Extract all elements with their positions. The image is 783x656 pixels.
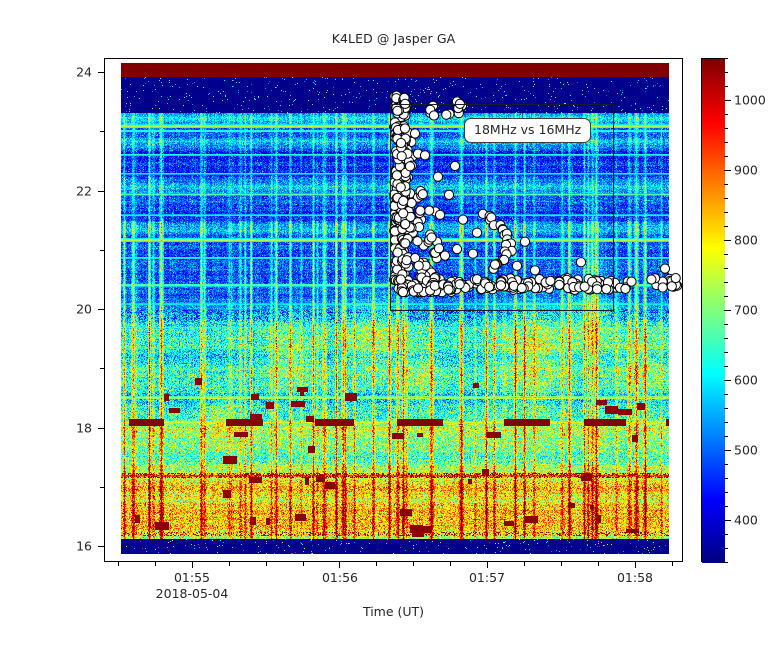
colorbar-tick-minor: [724, 296, 728, 297]
colorbar-tick-minor: [724, 324, 728, 325]
colorbar-ticklabel: 600: [734, 373, 758, 388]
scatter-point: [669, 278, 678, 287]
x-tick-minor: [229, 562, 230, 566]
scatter-point: [672, 281, 681, 290]
x-tick-major: [339, 562, 340, 568]
colorbar-tick-major: [724, 100, 731, 101]
colorbar-tick-minor: [724, 268, 728, 269]
colorbar-tick-major: [724, 240, 731, 241]
page-title: K4LED @ Jasper GA: [104, 31, 683, 46]
colorbar-tick-minor: [724, 534, 728, 535]
x-ticklabel: 01:58: [617, 570, 653, 585]
colorbar-tick-minor: [724, 464, 728, 465]
colorbar-tick-major: [724, 380, 731, 381]
figure-canvas: K4LED @ Jasper GA 18MHz vs 16MHz 01:5501…: [0, 0, 783, 656]
y-ticklabel: 22: [0, 183, 92, 198]
x-tick-major: [487, 562, 488, 568]
x-tick-minor: [266, 562, 267, 566]
colorbar-tick-minor: [724, 338, 728, 339]
x-tick-minor: [524, 562, 525, 566]
colorbar-ticklabel: 500: [734, 443, 758, 458]
y-ticklabel: 20: [0, 302, 92, 317]
y-tick-minor: [100, 131, 104, 132]
colorbar-ticklabel: 1000: [734, 93, 766, 108]
colorbar-tick-minor: [724, 58, 728, 59]
colorbar-tick-minor: [724, 226, 728, 227]
x-tick-minor: [598, 562, 599, 566]
scatter-point: [669, 282, 678, 291]
colorbar-gradient: [702, 59, 725, 563]
colorbar-tick-minor: [724, 114, 728, 115]
colorbar-tick-minor: [724, 142, 728, 143]
x-tick-minor: [561, 562, 562, 566]
y-tick-minor: [100, 487, 104, 488]
colorbar-ticklabel: 800: [734, 233, 758, 248]
x-tick-minor: [672, 562, 673, 566]
x-ticklabel: 01:55: [174, 570, 210, 585]
colorbar-ticklabel: 700: [734, 303, 758, 318]
x-tick-major: [635, 562, 636, 568]
colorbar-ticklabel: 900: [734, 163, 758, 178]
colorbar-tick-minor: [724, 492, 728, 493]
x-ticklabel: 01:57: [469, 570, 505, 585]
colorbar-tick-minor: [724, 436, 728, 437]
colorbar-tick-minor: [724, 254, 728, 255]
y-ticklabel: 16: [0, 539, 92, 554]
y-tick-major: [98, 309, 104, 310]
colorbar-tick-minor: [724, 156, 728, 157]
x-tick-minor: [118, 562, 119, 566]
x-axis-date-label: 2018-05-04: [156, 586, 229, 601]
colorbar-tick-major: [724, 170, 731, 171]
x-tick-minor: [413, 562, 414, 566]
y-tick-major: [98, 428, 104, 429]
x-ticklabel: 01:56: [322, 570, 358, 585]
colorbar-tick-minor: [724, 366, 728, 367]
colorbar-tick-minor: [724, 282, 728, 283]
colorbar-ticklabel: 400: [734, 513, 758, 528]
annotation-label: 18MHz vs 16MHz: [464, 118, 591, 143]
x-tick-minor: [450, 562, 451, 566]
colorbar-tick-minor: [724, 352, 728, 353]
colorbar-tick-minor: [724, 86, 728, 87]
y-ticklabel: 24: [0, 65, 92, 80]
colorbar-tick-minor: [724, 422, 728, 423]
colorbar-tick-minor: [724, 184, 728, 185]
x-tick-minor: [376, 562, 377, 566]
colorbar-tick-minor: [724, 562, 728, 563]
scatter-point: [673, 281, 682, 290]
colorbar-tick-minor: [724, 72, 728, 73]
y-tick-major: [98, 72, 104, 73]
colorbar-tick-major: [724, 450, 731, 451]
colorbar-tick-minor: [724, 394, 728, 395]
colorbar-tick-major: [724, 520, 731, 521]
scatter-point: [671, 274, 680, 283]
plot-area: 18MHz vs 16MHz: [105, 59, 682, 561]
colorbar[interactable]: [701, 58, 724, 562]
y-tick-minor: [100, 368, 104, 369]
colorbar-tick-minor: [724, 212, 728, 213]
colorbar-tick-minor: [724, 478, 728, 479]
x-tick-minor: [155, 562, 156, 566]
spectrogram-axes[interactable]: 18MHz vs 16MHz: [104, 58, 683, 562]
colorbar-tick-minor: [724, 128, 728, 129]
colorbar-tick-minor: [724, 198, 728, 199]
colorbar-tick-minor: [724, 408, 728, 409]
scatter-point: [671, 280, 680, 289]
colorbar-tick-major: [724, 310, 731, 311]
x-tick-major: [192, 562, 193, 568]
y-tick-minor: [100, 250, 104, 251]
colorbar-tick-minor: [724, 548, 728, 549]
y-tick-major: [98, 191, 104, 192]
y-tick-major: [98, 546, 104, 547]
x-axis-label: Time (UT): [104, 604, 683, 619]
y-ticklabel: 18: [0, 420, 92, 435]
colorbar-tick-minor: [724, 506, 728, 507]
x-tick-minor: [303, 562, 304, 566]
